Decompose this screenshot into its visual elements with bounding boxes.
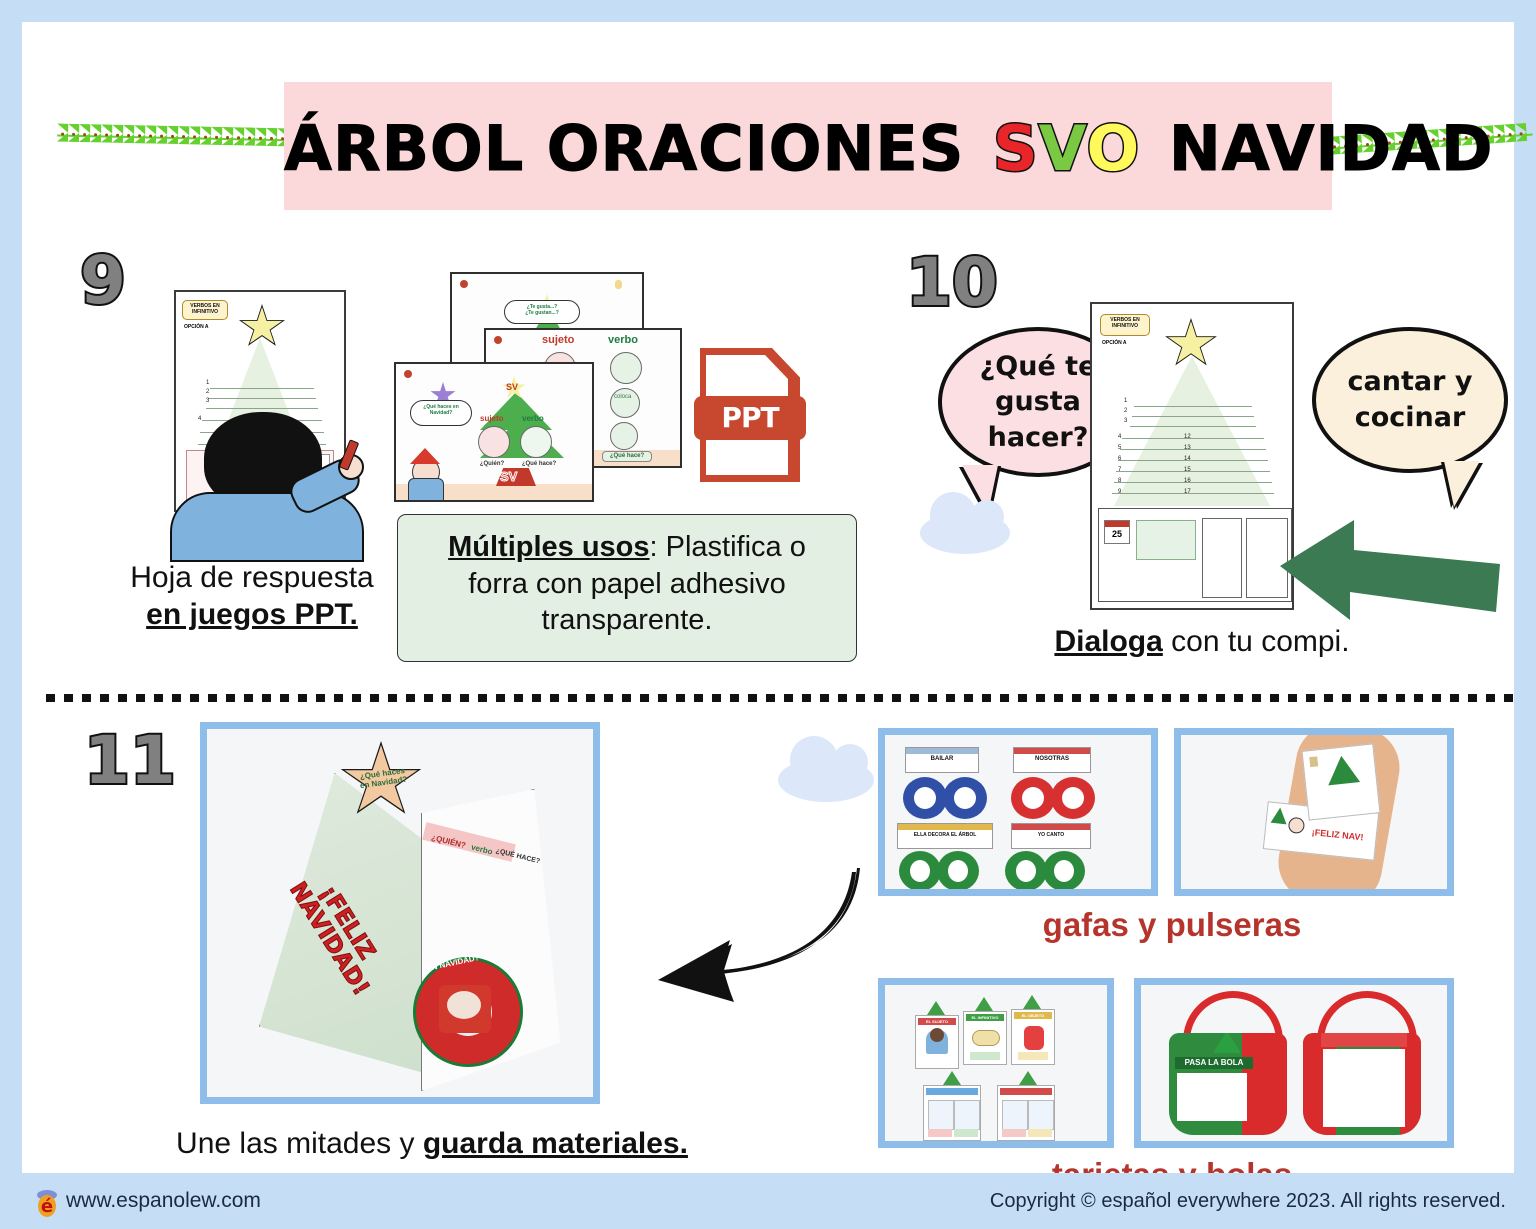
- caption-step-11: Une las mitades y guarda materiales.: [92, 1126, 772, 1163]
- ppt-slide-front: ¿Qué haces en Navidad? SV sujeto verbo ¿…: [394, 362, 594, 502]
- title-part-1: ÁRBOL ORACIONES: [284, 112, 964, 185]
- gafas-card-3: YO CANTO: [1011, 823, 1091, 849]
- step-number-10: 10: [906, 250, 998, 316]
- info-box-multiple-uses: Múltiples usos: Plastifica o forra con p…: [397, 514, 857, 662]
- caption-step-11-plain: Une las mitades y: [176, 1127, 423, 1160]
- slide-front-bubble: ¿Qué haces en Navidad?: [410, 400, 472, 426]
- worksheet10-option: OPCIÓN A: [1102, 340, 1127, 346]
- gafas-ring-1: [943, 777, 987, 819]
- ppt-icon-label: PPT: [694, 396, 806, 440]
- page-title: ÁRBOL ORACIONES SVO NAVIDAD: [284, 112, 1332, 185]
- title-banner: ÁRBOL ORACIONES SVO NAVIDAD: [284, 82, 1332, 210]
- worksheet-tag: VERBOS EN INFINITIVO: [182, 300, 228, 320]
- worksheet-option: OPCIÓN A: [184, 324, 209, 330]
- black-curved-arrow-icon: [652, 862, 862, 1002]
- person-body: [170, 492, 364, 562]
- step-number-9: 9: [80, 248, 126, 314]
- slide-front-sujeto: sujeto: [480, 414, 504, 423]
- caption-step-10-bold: Dialoga: [1054, 625, 1162, 658]
- gafas-ring-0: [903, 777, 947, 819]
- bracelet-topper: [1302, 743, 1381, 820]
- gafas-ring-3: [1051, 777, 1095, 819]
- gafas-card-0: BAILAR: [905, 747, 979, 773]
- cloud-decoration-b: [778, 758, 874, 802]
- step-number-11: 11: [84, 728, 176, 794]
- gafas-ring-2: [1011, 777, 1055, 819]
- calendar-icon: 25: [1104, 520, 1130, 544]
- gafas-ring-4: [899, 851, 941, 891]
- gafas-card-2: ELLA DECORA EL ÁRBOL: [897, 823, 993, 849]
- gafas-ring-5: [937, 851, 979, 891]
- bola-craft-front: PASA LA BOLA: [1163, 991, 1293, 1139]
- bola-craft-back: [1297, 991, 1427, 1139]
- photo-bracelet: ¡FELIZ NAV!: [1174, 728, 1454, 896]
- green-arrow-icon: [1280, 512, 1500, 622]
- footer-website-url[interactable]: www.espanolew.com: [66, 1189, 261, 1213]
- tarjeta-card-4: [997, 1085, 1055, 1141]
- page-footer: é www.espanolew.com Copyright © español …: [0, 1173, 1536, 1229]
- slide-front-sv-top: SV: [506, 382, 518, 392]
- svg-text:é: é: [41, 1196, 53, 1217]
- gafas-card-1: NOSOTRAS: [1013, 747, 1091, 773]
- gafas-ring-6: [1005, 851, 1047, 891]
- slide-middle-sujeto: sujeto: [542, 334, 574, 346]
- poster-page: ÁRBOL ORACIONES SVO NAVIDAD 9 VERBOS EN …: [22, 22, 1514, 1173]
- tarjeta-card-1: EL INFINITIVO: [963, 1011, 1007, 1065]
- footer-copyright: Copyright © español everywhere 2023. All…: [990, 1190, 1506, 1213]
- caption-step-10-rest: con tu compi.: [1163, 625, 1350, 658]
- tarjeta-card-2: EL OBJETO: [1011, 1009, 1055, 1065]
- title-letter-o: O: [1087, 112, 1141, 185]
- bracelet-text: ¡FELIZ NAV!: [1311, 827, 1364, 842]
- caption-step-9: Hoja de respuesta en juegos PPT.: [62, 560, 442, 633]
- photo-gafas-cards: BAILAR NOSOTRAS ELLA DECORA EL ÁRBOL YO …: [878, 728, 1158, 896]
- tarjeta-card-0: EL SUJETO: [915, 1015, 959, 1069]
- ppt-file-icon: PPT: [694, 348, 806, 482]
- worksheet-dialogue-sheet: VERBOS EN INFINITIVO OPCIÓN A 1 2 3 4 5 …: [1090, 302, 1294, 610]
- speech-bubble-answer-tail: [1444, 461, 1480, 507]
- gafas-ring-7: [1043, 851, 1085, 891]
- worksheet10-tree: [1114, 356, 1270, 506]
- garland-left-decoration: [57, 123, 297, 154]
- slide-front-verbo: verbo: [522, 414, 544, 423]
- tarjeta-card-3: [923, 1085, 981, 1141]
- photo-folded-tree-craft: ¿Qué haces en Navidad? ¡FELIZNAVIDAD! ¿Q…: [200, 722, 600, 1104]
- espanolew-logo-icon: é: [34, 1187, 60, 1217]
- caption-step-9-bold: en juegos PPT.: [146, 598, 358, 631]
- cloud-decoration-a: [920, 512, 1010, 554]
- speech-bubble-answer: cantar y cocinar: [1312, 327, 1508, 473]
- caption-step-11-bold: guarda materiales.: [423, 1127, 688, 1160]
- slide-back-bubble: ¿Te gusta...?¿Te gustan...?: [504, 300, 580, 324]
- title-letter-s: S: [993, 112, 1039, 185]
- slide-middle-quehace: ¿Qué hace?: [602, 451, 652, 462]
- slide-front-sv-bottom: SV: [500, 469, 517, 484]
- slide-middle-verbo: verbo: [608, 334, 638, 346]
- worksheet10-tag: VERBOS EN INFINITIVO: [1100, 314, 1150, 336]
- info-box-bold: Múltiples usos: [448, 531, 649, 563]
- label-gafas-y-pulseras: gafas y pulseras: [922, 906, 1422, 944]
- title-part-2: NAVIDAD: [1169, 112, 1494, 185]
- bola-label: PASA LA BOLA: [1175, 1057, 1253, 1069]
- title-letter-v: V: [1039, 112, 1087, 185]
- caption-step-10: Dialoga con tu compi.: [952, 624, 1452, 661]
- photo-bolas-craft: PASA LA BOLA: [1134, 978, 1454, 1148]
- photo-tarjetas-cards: EL SUJETO EL INFINITIVO EL OBJETO: [878, 978, 1114, 1148]
- slide-middle-coloca: coloca: [614, 394, 631, 400]
- section-divider: [46, 694, 1516, 702]
- speech-bubble-answer-text: cantar y cocinar: [1334, 364, 1486, 435]
